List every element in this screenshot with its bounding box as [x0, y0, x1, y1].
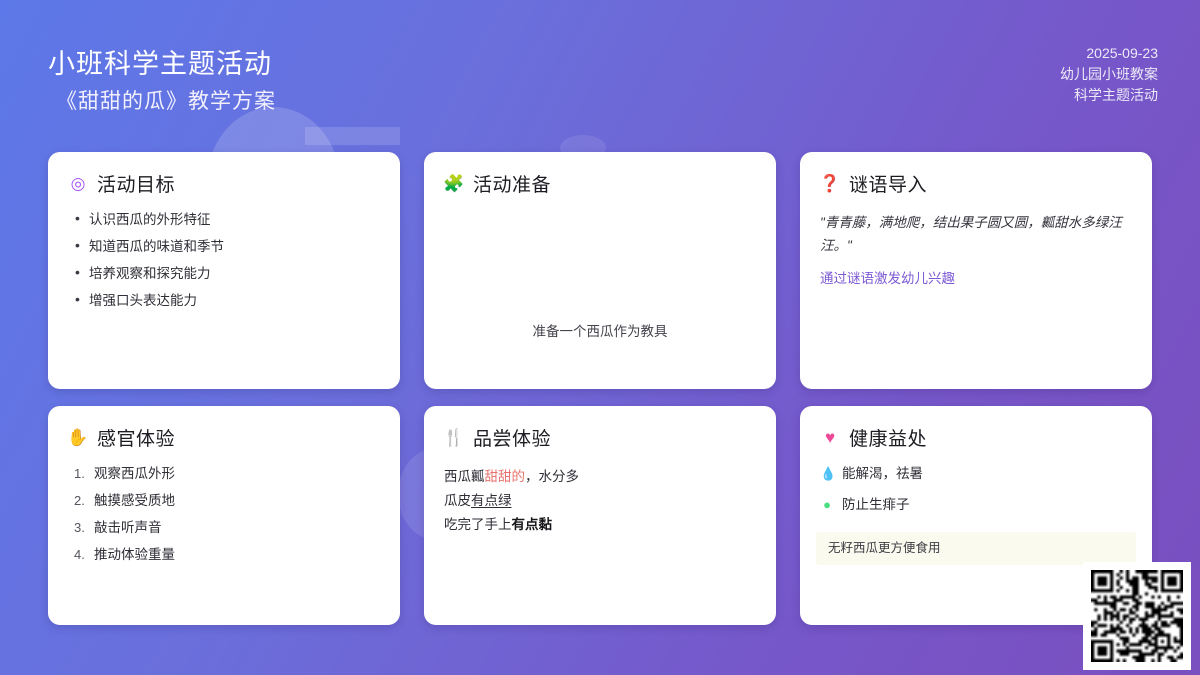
card-title: 活动准备 [473, 170, 551, 197]
benefit-text: 防止生痱子 [842, 496, 910, 514]
riddle-text: "青青藤，满地爬，结出果子圆又圆，瓤甜水多绿汪汪。" [820, 211, 1132, 257]
water-drop-icon: 💧 [820, 465, 834, 483]
header-title-block: 小班科学主题活动 《甜甜的瓜》教学方案 [48, 47, 276, 117]
card-title: 感官体验 [97, 424, 175, 451]
preparation-note: 准备一个西瓜作为教具 [424, 320, 776, 340]
card-header: 🧩 活动准备 [444, 170, 756, 197]
card-title: 活动目标 [97, 170, 175, 197]
list-item: 增强口头表达能力 [72, 292, 380, 309]
card-sensory[interactable]: ✋ 感官体验 观察西瓜外形 触摸感受质地 敲击听声音 推动体验重量 [48, 406, 400, 625]
qr-code[interactable] [1083, 562, 1191, 670]
list-item: 培养观察和探究能力 [72, 265, 380, 282]
page-subtitle: 《甜甜的瓜》教学方案 [56, 87, 276, 117]
health-tip: 无籽西瓜更方便食用 [816, 532, 1136, 565]
list-item: 认识西瓜的外形特征 [72, 211, 380, 228]
line-suffix: ，水分多 [525, 469, 579, 484]
heart-icon: ♥ [820, 429, 840, 446]
card-title: 品尝体验 [473, 424, 551, 451]
benefit-item: 💧 能解渴，祛暑 [820, 465, 1132, 483]
list-item: 触摸感受质地 [72, 492, 380, 509]
target-icon: ◎ [68, 175, 88, 192]
line-prefix: 西瓜瓤 [444, 469, 485, 484]
card-preparation[interactable]: 🧩 活动准备 准备一个西瓜作为教具 [424, 152, 776, 389]
line-highlight: 有点黏 [512, 517, 553, 532]
card-header: ✋ 感官体验 [68, 424, 380, 451]
tasting-lines: 西瓜瓤甜甜的，水分多 瓜皮有点绿 吃完了手上有点黏 [444, 465, 756, 537]
sensory-list: 观察西瓜外形 触摸感受质地 敲击听声音 推动体验重量 [68, 465, 380, 563]
question-icon: ❓ [820, 175, 840, 192]
qr-code-image [1091, 570, 1183, 662]
meta-date: 2025-09-23 [1060, 43, 1158, 64]
green-circle-icon: ● [820, 496, 834, 514]
tasting-line: 吃完了手上有点黏 [444, 513, 756, 537]
page-title: 小班科学主题活动 [48, 47, 276, 81]
card-objectives[interactable]: ◎ 活动目标 认识西瓜的外形特征 知道西瓜的味道和季节 培养观察和探究能力 增强… [48, 152, 400, 389]
riddle-note: 通过谜语激发幼儿兴趣 [820, 269, 1132, 289]
line-prefix: 吃完了手上 [444, 517, 512, 532]
utensils-icon: 🍴 [444, 429, 464, 446]
card-title: 谜语导入 [849, 170, 927, 197]
objectives-list: 认识西瓜的外形特征 知道西瓜的味道和季节 培养观察和探究能力 增强口头表达能力 [68, 211, 380, 309]
card-grid: ◎ 活动目标 认识西瓜的外形特征 知道西瓜的味道和季节 培养观察和探究能力 增强… [48, 152, 1152, 625]
card-header: ❓ 谜语导入 [820, 170, 1132, 197]
card-header: ◎ 活动目标 [68, 170, 380, 197]
list-item: 推动体验重量 [72, 546, 380, 563]
list-item: 观察西瓜外形 [72, 465, 380, 482]
hand-icon: ✋ [68, 429, 88, 446]
meta-category: 幼儿园小班教案 [1060, 64, 1158, 85]
list-item: 敲击听声音 [72, 519, 380, 536]
line-prefix: 瓜皮 [444, 493, 471, 508]
tasting-line: 瓜皮有点绿 [444, 489, 756, 513]
list-item: 知道西瓜的味道和季节 [72, 238, 380, 255]
meta-subject: 科学主题活动 [1060, 85, 1158, 106]
card-riddle-intro[interactable]: ❓ 谜语导入 "青青藤，满地爬，结出果子圆又圆，瓤甜水多绿汪汪。" 通过谜语激发… [800, 152, 1152, 389]
puzzle-icon: 🧩 [444, 175, 464, 192]
card-title: 健康益处 [849, 424, 927, 451]
card-tasting[interactable]: 🍴 品尝体验 西瓜瓤甜甜的，水分多 瓜皮有点绿 吃完了手上有点黏 [424, 406, 776, 625]
slide-header: 小班科学主题活动 《甜甜的瓜》教学方案 2025-09-23 幼儿园小班教案 科… [0, 0, 1200, 148]
benefit-text: 能解渴，祛暑 [842, 465, 923, 483]
card-header: ♥ 健康益处 [820, 424, 1132, 451]
benefit-item: ● 防止生痱子 [820, 496, 1132, 514]
card-header: 🍴 品尝体验 [444, 424, 756, 451]
header-meta-block: 2025-09-23 幼儿园小班教案 科学主题活动 [1060, 43, 1158, 106]
line-highlight: 有点绿 [471, 493, 512, 508]
line-highlight: 甜甜的 [485, 469, 526, 484]
tasting-line: 西瓜瓤甜甜的，水分多 [444, 465, 756, 489]
